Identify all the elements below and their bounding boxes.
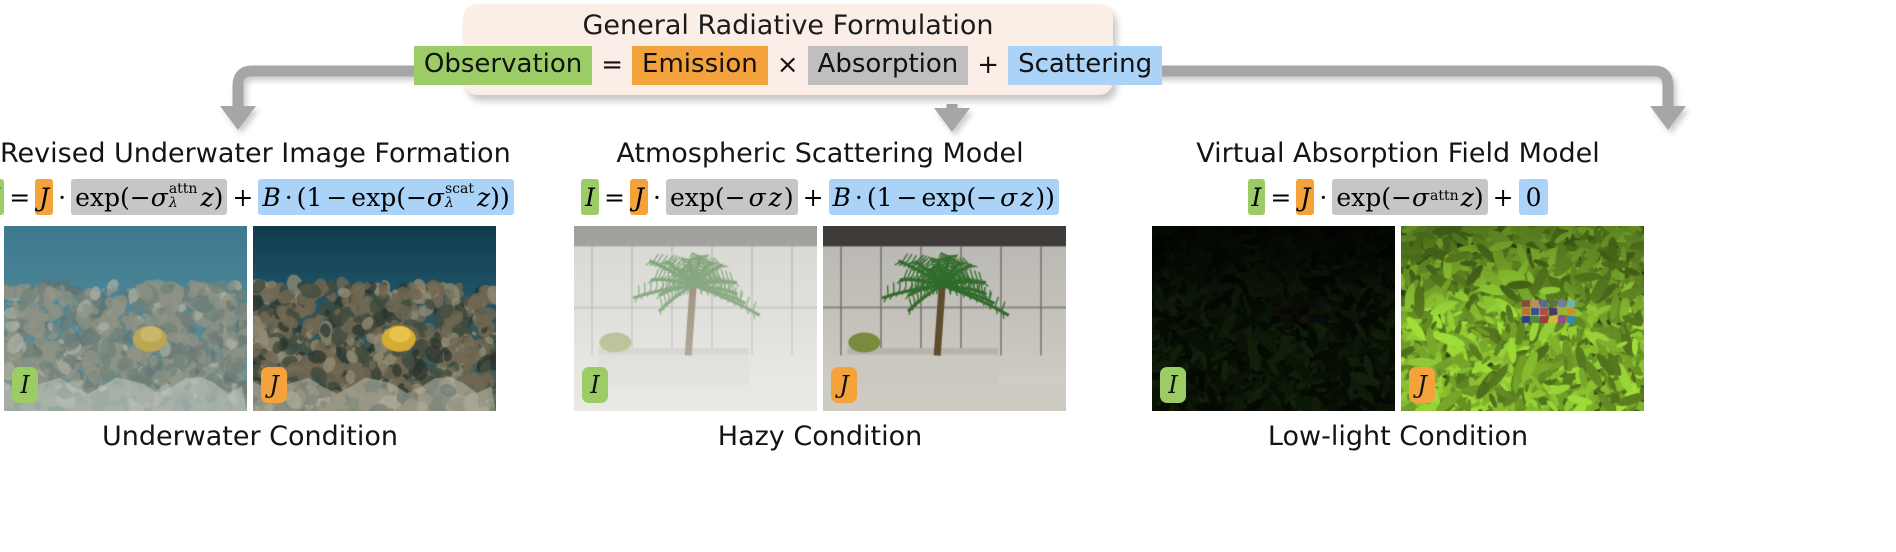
operator-plus: +: [968, 46, 1008, 85]
image-tag-I: I: [1160, 367, 1186, 403]
eq-op-cdot: ·: [53, 179, 71, 215]
equation-lowlight: I = J · exp(−σattnz) + 0: [1148, 176, 1648, 218]
figure-root: General Radiative Formulation Observatio…: [0, 0, 1896, 552]
eq-op-cdot: ·: [1314, 179, 1332, 215]
image-tag-J: J: [831, 367, 857, 403]
image-tag-J: J: [1409, 367, 1435, 403]
eq-term-scattering: B·(1−exp(−σscatλz)): [258, 179, 513, 215]
image-underwater-I[interactable]: I: [4, 226, 247, 411]
column-title-hazy: Atmospheric Scattering Model: [570, 138, 1070, 170]
eq-term-I: I: [581, 179, 599, 215]
eq-op-plus: +: [1488, 179, 1519, 215]
eq-op-plus: +: [227, 179, 258, 215]
chip-emission: Emission: [632, 46, 768, 85]
image-hazy-J[interactable]: J: [823, 226, 1066, 411]
column-title-underwater: Revised Underwater Image Formation: [0, 138, 500, 170]
image-tag-I: I: [582, 367, 608, 403]
eq-op-equals: =: [4, 179, 35, 215]
eq-term-absorption: exp(−σattnλz): [71, 179, 227, 215]
equation-underwater: I = J · exp(−σattnλz) + B·(1−exp(−σscatλ…: [0, 176, 500, 218]
image-hazy-I[interactable]: I: [574, 226, 817, 411]
eq-term-absorption: exp(−σattnz): [1332, 179, 1487, 215]
image-tag-J: J: [261, 367, 287, 403]
operator-equals: =: [592, 46, 632, 85]
eq-op-plus: +: [798, 179, 829, 215]
eq-term-J: J: [35, 179, 53, 215]
header-equation: Observation = Emission × Absorption + Sc…: [473, 46, 1103, 85]
image-underwater-J[interactable]: J: [253, 226, 496, 411]
page-title: General Radiative Formulation: [473, 10, 1103, 41]
caption-lowlight: Low-light Condition: [1148, 421, 1648, 452]
eq-term-absorption: exp(−σz): [666, 179, 798, 215]
caption-underwater: Underwater Condition: [0, 421, 500, 452]
image-lowlight-I[interactable]: I: [1152, 226, 1395, 411]
chip-observation: Observation: [414, 46, 592, 85]
image-row-lowlight: I J: [1148, 226, 1648, 411]
chip-scattering: Scattering: [1008, 46, 1162, 85]
caption-hazy: Hazy Condition: [570, 421, 1070, 452]
eq-term-I: I: [1248, 179, 1266, 215]
header-card: General Radiative Formulation Observatio…: [463, 4, 1113, 95]
operator-times: ×: [768, 46, 808, 85]
image-tag-I: I: [12, 367, 38, 403]
image-row-underwater: I J: [0, 226, 500, 411]
column-hazy: Atmospheric Scattering Model I = J · exp…: [570, 138, 1070, 452]
eq-op-cdot: ·: [648, 179, 666, 215]
column-title-lowlight: Virtual Absorption Field Model: [1148, 138, 1648, 170]
eq-term-J: J: [1296, 179, 1314, 215]
eq-op-equals: =: [599, 179, 630, 215]
image-row-hazy: I J: [570, 226, 1070, 411]
equation-hazy: I = J · exp(−σz) + B·(1−exp(−σz)): [570, 176, 1070, 218]
eq-term-zero: 0: [1519, 179, 1549, 215]
eq-term-scattering: B·(1−exp(−σz)): [829, 179, 1059, 215]
column-underwater: Revised Underwater Image Formation I = J…: [0, 138, 500, 452]
eq-op-equals: =: [1265, 179, 1296, 215]
image-lowlight-J[interactable]: J: [1401, 226, 1644, 411]
eq-term-J: J: [630, 179, 648, 215]
column-lowlight: Virtual Absorption Field Model I = J · e…: [1148, 138, 1648, 452]
chip-absorption: Absorption: [808, 46, 969, 85]
